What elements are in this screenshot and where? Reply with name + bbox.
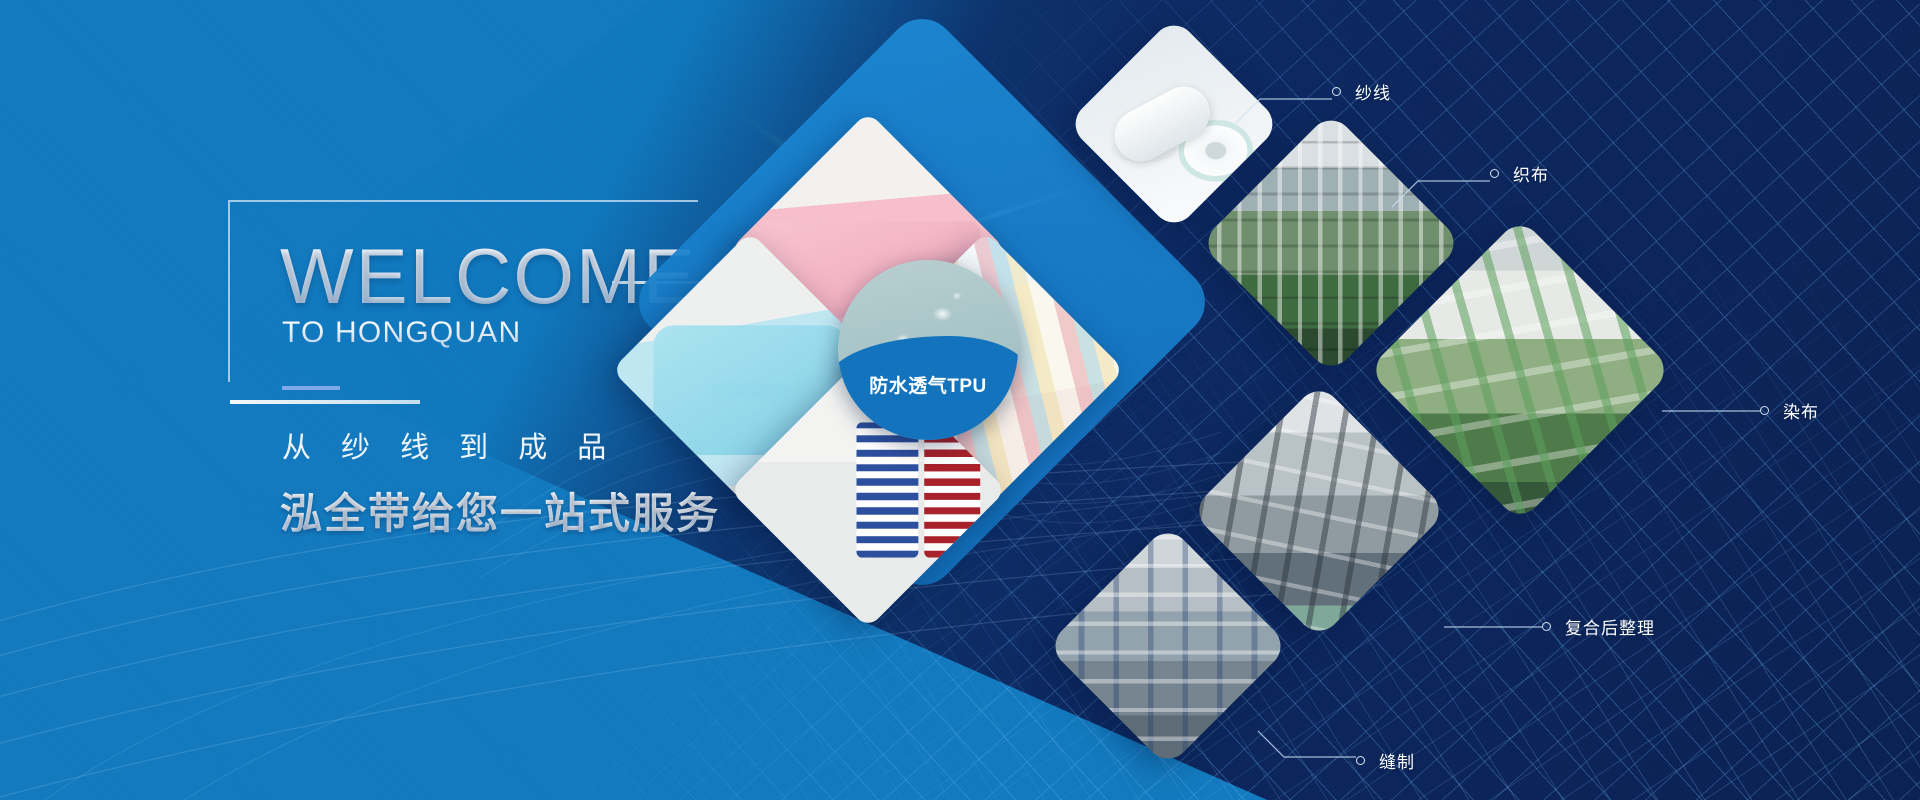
callout-yarn: 纱线 [1232, 81, 1391, 127]
callout-label: 染布 [1783, 398, 1819, 423]
hero-banner: WELCOME TO HONGQUAN 从 纱 线 到 成 品 泓全带给您一站式… [0, 0, 1920, 800]
callout-weaving: 织布 [1390, 163, 1549, 209]
callout-label: 缝制 [1379, 748, 1415, 773]
callout-dyeing: 染布 [1660, 398, 1819, 423]
callout-laminating: 复合后整理 [1442, 614, 1655, 639]
leader-line-icon [1660, 404, 1764, 418]
callout-dot-icon [1542, 622, 1551, 631]
callout-dot-icon [1490, 169, 1499, 178]
callout-sewing: 缝制 [1256, 729, 1415, 775]
badge-label: 防水透气TPU [838, 371, 1018, 398]
leader-line-icon [1256, 729, 1360, 775]
callout-label: 纱线 [1355, 79, 1391, 104]
callout-dot-icon [1356, 756, 1365, 765]
divider-short [282, 386, 340, 390]
tpu-badge: 防水透气TPU [838, 260, 1018, 440]
leader-line-icon [1390, 163, 1494, 209]
callout-label: 织布 [1513, 161, 1549, 186]
leader-line-icon [1232, 81, 1336, 127]
headline-cn: 泓全带给您一站式服务 [280, 480, 788, 541]
callout-dot-icon [1760, 406, 1769, 415]
callout-dot-icon [1332, 87, 1341, 96]
leader-line-icon [1442, 620, 1546, 634]
callout-label: 复合后整理 [1565, 614, 1655, 639]
